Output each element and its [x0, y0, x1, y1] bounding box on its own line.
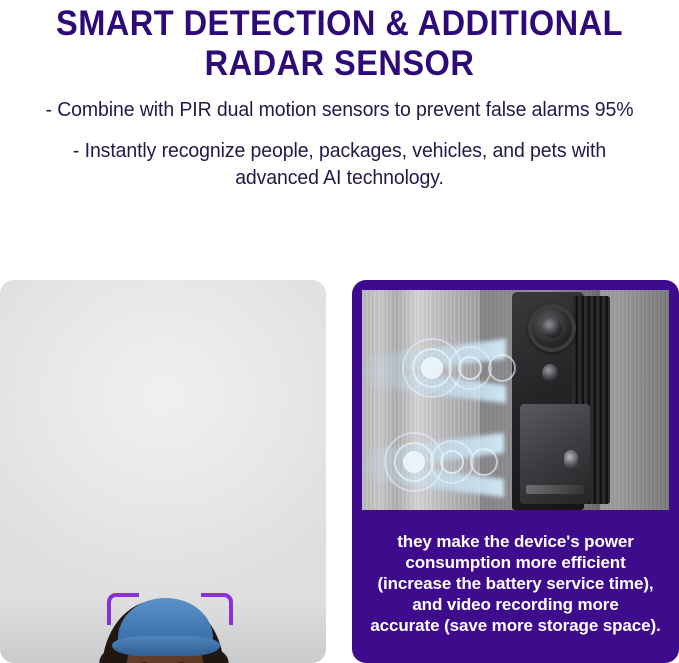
ripple-core-icon — [403, 451, 425, 473]
feature-bullet-1: - Combine with PIR dual motion sensors t… — [30, 96, 648, 123]
ripple-core-icon — [421, 357, 443, 379]
ripple-secondary-core-icon — [440, 450, 464, 474]
lens-glass-icon — [542, 318, 562, 338]
radar-doorbell-photo — [362, 290, 669, 510]
header-section: SMART DETECTION & ADDITIONAL RADAR SENSO… — [0, 0, 679, 191]
delivery-person-figure — [0, 280, 326, 663]
page-title: SMART DETECTION & ADDITIONAL RADAR SENSO… — [24, 4, 655, 84]
feature-bullet-list: - Combine with PIR dual motion sensors t… — [0, 96, 679, 191]
brand-label — [526, 485, 584, 494]
radar-caption-text: they make the device's power consumption… — [362, 514, 669, 653]
right-image-panel: they make the device's power consumption… — [352, 280, 679, 663]
left-image-panel — [0, 280, 326, 663]
camera-lens-icon — [528, 304, 576, 352]
cap-brim-icon — [112, 636, 220, 656]
feature-bullet-2: - Instantly recognize people, packages, … — [30, 137, 648, 191]
doorbell-lower-module — [520, 404, 590, 504]
ripple-tertiary-icon — [488, 354, 516, 382]
person-detection-photo — [0, 280, 326, 663]
ripple-secondary-core-icon — [458, 356, 482, 380]
video-doorbell-device — [512, 292, 584, 510]
radar-sensor-icon — [564, 450, 578, 470]
pir-sensor-icon — [542, 364, 558, 382]
ripple-tertiary-icon — [470, 448, 498, 476]
panels-row: they make the device's power consumption… — [0, 280, 679, 663]
